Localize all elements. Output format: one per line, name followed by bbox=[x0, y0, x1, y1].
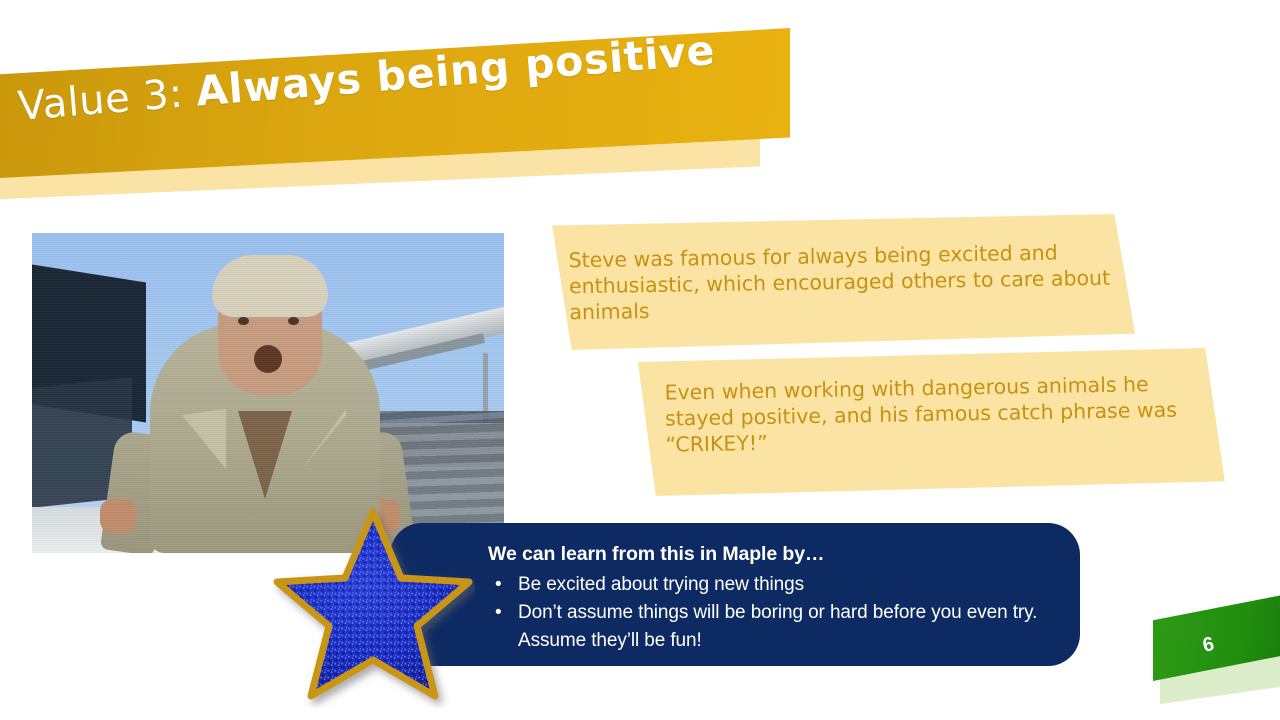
list-item-label: Be excited about trying new things bbox=[518, 574, 804, 595]
photo-mouth bbox=[254, 345, 282, 373]
list-item-label: Don’t assume things will be boring or ha… bbox=[518, 602, 1037, 651]
photo-eye-left bbox=[238, 317, 249, 325]
photo-hand-left bbox=[100, 499, 136, 533]
list-item: • Be excited about trying new things bbox=[488, 571, 1048, 599]
list-item: • Don’t assume things will be boring or … bbox=[488, 599, 1048, 655]
steve-irwin-photo bbox=[32, 233, 504, 553]
bullet-glyph-icon: • bbox=[495, 571, 502, 599]
bullet-glyph-icon: • bbox=[495, 599, 502, 627]
photo-hair bbox=[212, 255, 328, 317]
learning-box-content: We can learn from this in Maple by… • Be… bbox=[488, 541, 1048, 655]
photo-eye-right bbox=[288, 317, 299, 325]
note-card-2-text: Even when working with dangerous animals… bbox=[664, 370, 1195, 457]
slide-canvas: Value 3: Always being positive Steve was… bbox=[0, 0, 1280, 720]
note-card-1-text: Steve was famous for always being excite… bbox=[568, 239, 1114, 326]
learning-box-heading: We can learn from this in Maple by… bbox=[488, 541, 1048, 568]
glitter-star-icon bbox=[271, 508, 475, 708]
learning-box-list: • Be excited about trying new things • D… bbox=[488, 571, 1048, 655]
